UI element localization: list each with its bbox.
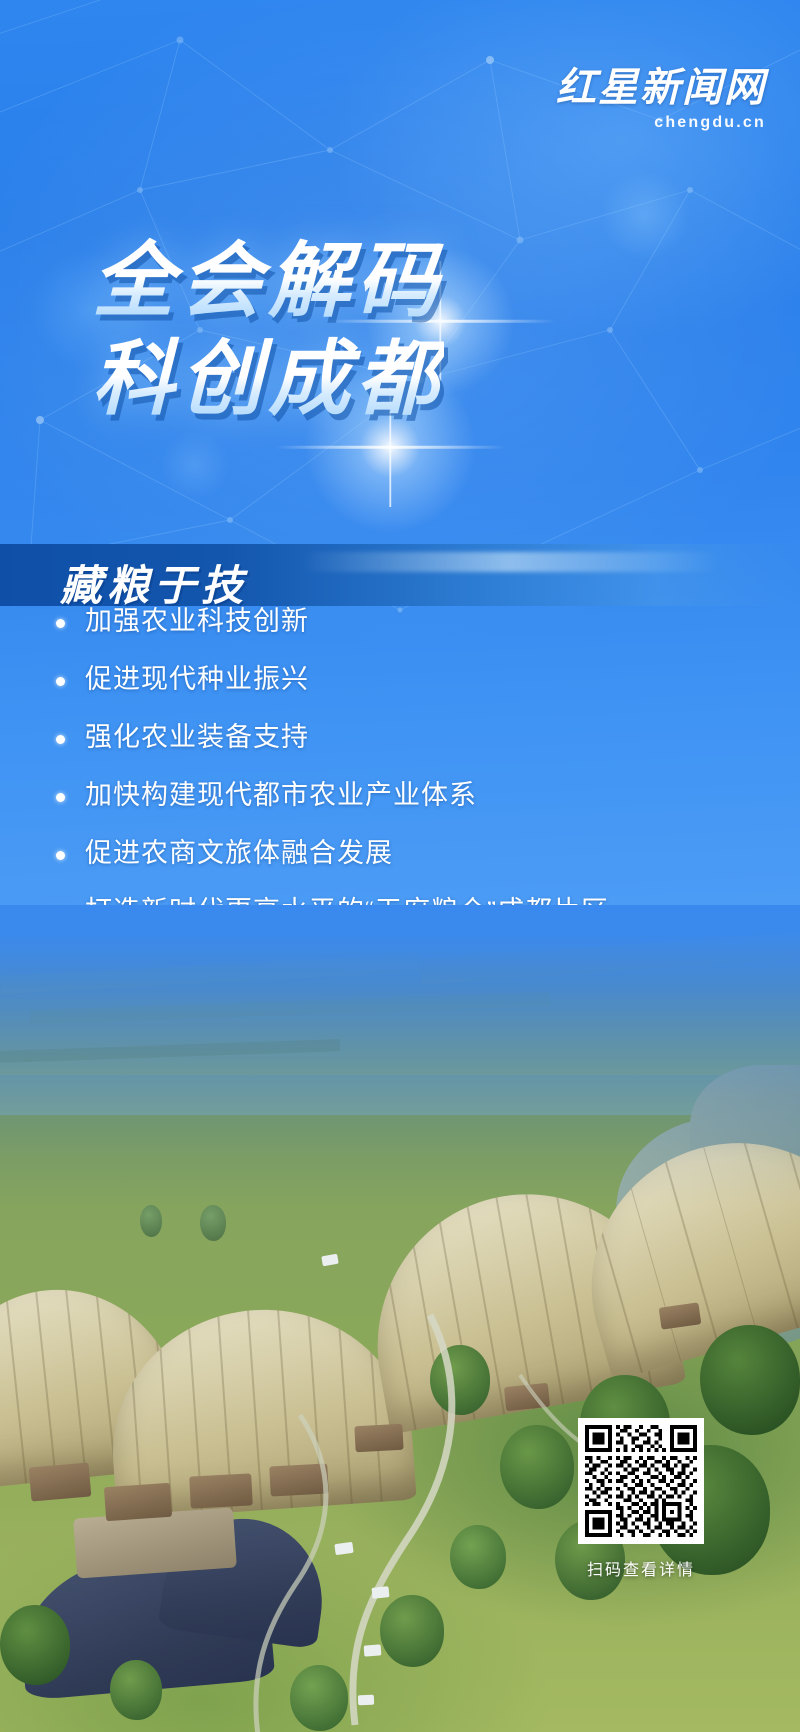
hero-title: 全会解码 科创成都: [92, 236, 444, 426]
list-item-label: 加强农业科技创新: [85, 602, 309, 641]
list-item-label: 加快构建现代都市农业产业体系: [85, 776, 477, 815]
car: [358, 1695, 374, 1706]
qr-caption: 扫码查看详情: [566, 1556, 716, 1580]
logo-chinese-text: 红星新闻网: [556, 68, 766, 108]
aerial-photo: [0, 905, 800, 1732]
hero-title-line-2: 科创成都: [92, 334, 444, 426]
bullet-list: 加强农业科技创新 促进现代种业振兴 强化农业装备支持 加快构建现代都市农业产业体…: [44, 602, 764, 950]
list-item-label: 促进农商文旅体融合发展: [85, 834, 393, 873]
qr-code-image[interactable]: [578, 1418, 704, 1544]
bullet-dot-icon: [56, 735, 65, 744]
car: [364, 1644, 382, 1656]
car: [371, 1586, 389, 1599]
bullet-dot-icon: [56, 851, 65, 860]
list-item-label: 强化农业装备支持: [85, 718, 309, 757]
list-item: 加快构建现代都市农业产业体系: [44, 776, 764, 834]
tree: [140, 1205, 162, 1237]
photo-blue-gradient-overlay: [0, 905, 800, 1205]
list-item: 促进农商文旅体融合发展: [44, 834, 764, 892]
qr-code-svg: [585, 1425, 697, 1537]
bullet-dot-icon: [56, 619, 65, 628]
hero-title-line-1: 全会解码: [92, 236, 444, 328]
list-item: 促进现代种业振兴: [44, 660, 764, 718]
bullet-dot-icon: [56, 677, 65, 686]
tree: [200, 1205, 226, 1241]
qr-code-block[interactable]: 扫码查看详情: [566, 1418, 716, 1580]
banner-highlight-streak: [300, 552, 720, 572]
poster-root: 红星新闻网 chengdu.cn 全会解码 科创成都 藏粮于技 加强农业科技创新…: [0, 0, 800, 1732]
list-item: 加强农业科技创新: [44, 602, 764, 660]
list-item: 强化农业装备支持: [44, 718, 764, 776]
bullet-dot-icon: [56, 793, 65, 802]
list-item-label: 促进现代种业振兴: [85, 660, 309, 699]
site-logo[interactable]: 红星新闻网 chengdu.cn: [556, 68, 766, 131]
logo-domain-text: chengdu.cn: [556, 115, 766, 131]
